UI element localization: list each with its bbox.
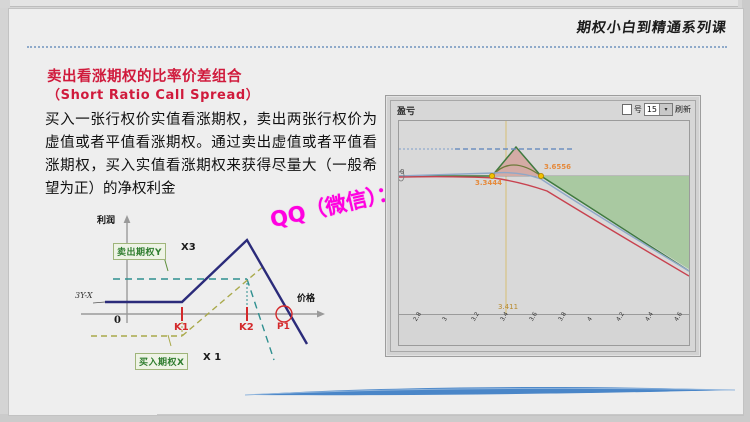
pnl-plot-area[interactable]: 3.3444 3.6556 0 [398,120,690,315]
payoff-buy-label-leader [168,335,171,346]
chevron-down-icon[interactable]: ▾ [659,104,672,115]
viewer-top-strip [0,0,750,8]
payoff-buy-leg-label: 买入期权X [135,353,188,370]
days-spinner[interactable]: 15 ▾ [644,103,673,116]
slide-viewer: 期权小白到精通系列课 卖出看涨期权的比率价差组合 （Short Ratio Ca… [0,0,750,422]
payoff-breakeven-label: P1 [277,322,290,332]
viewer-top-strip-inner [10,0,738,7]
body-paragraph: 买入一张行权价实值看涨期权，卖出两张行权价为虚值或者平值看涨期权。通过卖出虚值或… [45,109,377,201]
payoff-buy-leg-multiplier: X 1 [203,352,221,363]
payoff-sell-leg-label: 卖出期权Y [113,243,166,260]
payoff-origin-label: 0 [114,315,121,326]
payoff-y-axis-label: 利润 [97,213,115,226]
lower-breakeven-marker [489,173,494,178]
pnl-chart-panel: 盈亏 号 15 ▾ 刷新 [385,95,701,357]
zero-value-label: 0 [400,168,404,176]
page-subtitle: （Short Ratio Call Spread） [47,87,377,104]
upper-breakeven-label: 3.6556 [544,163,571,171]
payoff-diagram: 利润 价格 0 3Y-X 卖出期权Y X3 买入期权X X 1 K1 K2 P1 [69,205,369,385]
payoff-premium-leader [93,302,105,303]
payoff-strike1-label: K1 [174,322,189,333]
pnl-chart-panel-inner: 盈亏 号 15 ▾ 刷新 [390,100,696,352]
pnl-chart-header: 盈亏 号 15 ▾ 刷新 [391,101,695,119]
lower-breakeven-label: 3.3444 [475,179,502,187]
footer-swoosh [245,385,735,397]
upper-breakeven-marker [538,173,543,178]
days-spinner-value: 15 [645,105,659,114]
contract-checkbox[interactable] [622,104,632,115]
pnl-chart-controls: 号 15 ▾ 刷新 [622,103,691,116]
payoff-net-premium-label: 3Y-X [75,291,93,300]
payoff-x-arrow [317,311,325,318]
payoff-x-axis-label: 价格 [297,291,315,304]
refresh-button[interactable]: 刷新 [675,104,691,115]
payoff-y-arrow [124,215,131,223]
slide-canvas: 期权小白到精通系列课 卖出看涨期权的比率价差组合 （Short Ratio Ca… [8,8,744,416]
x-tick: 3 [441,316,449,323]
pnl-plot-svg [399,121,689,314]
header-divider [27,46,727,48]
pnl-chart-title: 盈亏 [397,104,415,117]
x-tick: 4 [586,316,594,323]
payoff-sell-leg-line [247,279,274,360]
course-title: 期权小白到精通系列课 [576,17,729,37]
page-title: 卖出看涨期权的比率价差组合 [47,69,377,86]
pnl-x-axis: 3.411 2.8 3 3.2 3.4 3.6 3.8 4 4.2 4.4 4.… [398,315,690,346]
footer-line [157,414,744,415]
payoff-strike2-label: K2 [239,322,254,333]
viewer-left-gutter [0,8,8,414]
current-price-label: 3.411 [498,303,518,311]
contract-checkbox-label: 号 [634,104,642,115]
payoff-sell-leg-multiplier: X3 [181,242,196,253]
